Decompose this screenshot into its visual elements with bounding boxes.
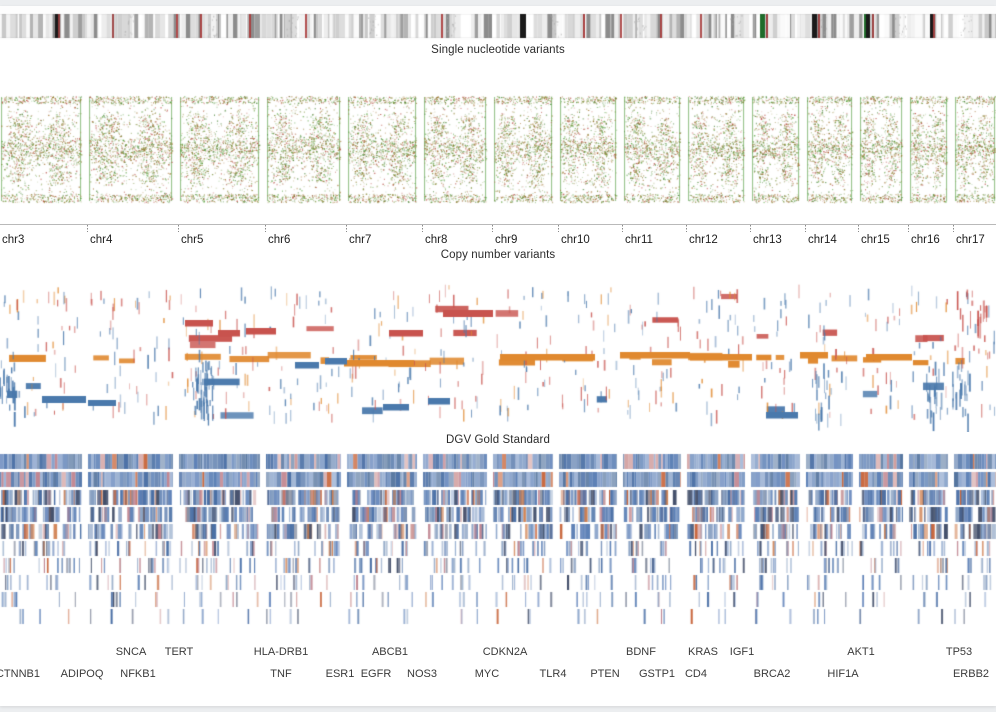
dgv-canvas[interactable]	[0, 452, 996, 628]
cnv-canvas[interactable]	[0, 264, 996, 432]
cnv-segment-track[interactable]	[0, 264, 996, 432]
cnv-track-title: Copy number variants	[0, 249, 996, 261]
axis-tick-chr13	[750, 225, 751, 232]
axis-tick-chr8	[422, 225, 423, 232]
axis-label-chr14: chr14	[808, 234, 837, 246]
axis-line	[0, 224, 996, 225]
gene-label-TERT: TERT	[165, 646, 194, 658]
gene-label-IGF1: IGF1	[730, 646, 754, 658]
gene-label-AKT1: AKT1	[847, 646, 875, 658]
gene-label-SNCA: SNCA	[116, 646, 147, 658]
axis-label-chr9: chr9	[495, 234, 517, 246]
dgv-track-title: DGV Gold Standard	[0, 434, 996, 446]
chromosome-axis: chr3chr4chr5chr6chr7chr8chr9chr10chr11ch…	[0, 216, 996, 248]
snv-scatter-canvas[interactable]	[0, 94, 996, 204]
snv-track-title: Single nucleotide variants	[0, 44, 996, 56]
gene-label-NOS3: NOS3	[407, 668, 437, 680]
axis-tick-chr4	[87, 225, 88, 232]
gene-label-HIF1A: HIF1A	[827, 668, 858, 680]
axis-tick-chr10	[558, 225, 559, 232]
gene-label-ESR1: ESR1	[326, 668, 355, 680]
axis-label-chr6: chr6	[268, 234, 290, 246]
axis-label-chr16: chr16	[911, 234, 940, 246]
gene-label-track: SNCATERTHLA-DRB1ABCB1CDKN2ABDNFKRASIGF1A…	[0, 642, 996, 688]
dgv-heatmap-track[interactable]	[0, 452, 996, 628]
gene-label-TNF: TNF	[270, 668, 291, 680]
snv-scatter-track[interactable]	[0, 94, 996, 204]
axis-tick-chr17	[953, 225, 954, 232]
gene-label-EGFR: EGFR	[361, 668, 392, 680]
axis-label-chr7: chr7	[349, 234, 371, 246]
ideogram-canvas[interactable]	[0, 6, 996, 40]
gene-label-CDKN2A: CDKN2A	[483, 646, 528, 658]
visualization-card: Single nucleotide variants chr3chr4chr5c…	[0, 6, 996, 706]
gene-label-BDNF: BDNF	[626, 646, 656, 658]
axis-label-chr12: chr12	[689, 234, 718, 246]
axis-label-chr15: chr15	[861, 234, 890, 246]
axis-label-chr8: chr8	[425, 234, 447, 246]
gene-label-CTNNB1: CTNNB1	[0, 668, 40, 680]
gene-label-TLR4: TLR4	[540, 668, 567, 680]
gene-label-BRCA2: BRCA2	[754, 668, 791, 680]
axis-label-chr4: chr4	[90, 234, 112, 246]
gene-label-HLA-DRB1: HLA-DRB1	[254, 646, 308, 658]
gene-label-ADIPOQ: ADIPOQ	[61, 668, 104, 680]
axis-label-chr10: chr10	[561, 234, 590, 246]
ideogram-track[interactable]	[0, 6, 996, 40]
gene-label-ERBB2: ERBB2	[953, 668, 989, 680]
gene-label-TP53: TP53	[946, 646, 972, 658]
gene-label-CD4: CD4	[685, 668, 707, 680]
axis-tick-chr6	[265, 225, 266, 232]
axis-label-chr13: chr13	[753, 234, 782, 246]
gene-label-GSTP1: GSTP1	[639, 668, 675, 680]
axis-label-chr5: chr5	[181, 234, 203, 246]
axis-tick-chr5	[178, 225, 179, 232]
axis-tick-chr7	[346, 225, 347, 232]
axis-tick-chr12	[686, 225, 687, 232]
axis-tick-chr16	[908, 225, 909, 232]
gene-label-PTEN: PTEN	[590, 668, 619, 680]
axis-tick-chr11	[622, 225, 623, 232]
gene-label-MYC: MYC	[475, 668, 499, 680]
axis-label-chr3: chr3	[2, 234, 24, 246]
axis-label-chr17: chr17	[956, 234, 985, 246]
gene-label-KRAS: KRAS	[688, 646, 718, 658]
axis-label-chr11: chr11	[625, 234, 653, 246]
axis-tick-chr14	[805, 225, 806, 232]
gene-label-NFKB1: NFKB1	[120, 668, 155, 680]
axis-tick-chr15	[858, 225, 859, 232]
gene-label-ABCB1: ABCB1	[372, 646, 408, 658]
axis-tick-chr9	[492, 225, 493, 232]
